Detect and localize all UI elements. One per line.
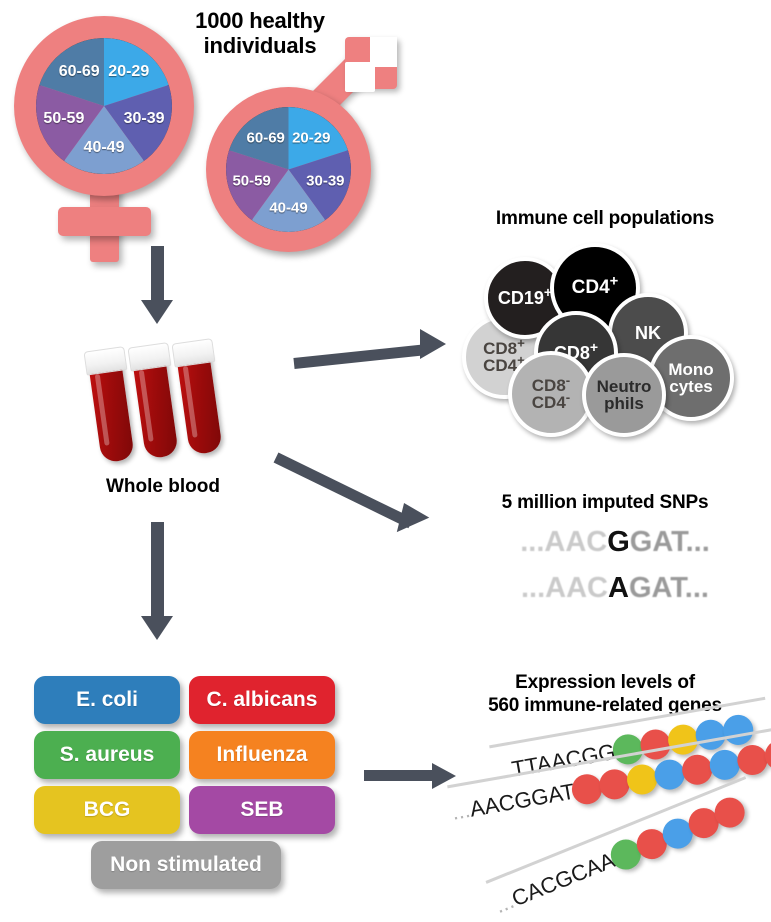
- male-age-pie-chart: 20-2930-3940-4950-5960-69: [226, 107, 351, 232]
- stimulus-influenza[interactable]: Influenza: [189, 731, 335, 779]
- stimulus-non-stimulated[interactable]: Non stimulated: [91, 841, 281, 889]
- stimulus-c-albicans[interactable]: C. albicans: [189, 676, 335, 724]
- snp-allele2-prefix: ...AAC: [521, 572, 608, 604]
- rna-bead: [721, 713, 756, 748]
- rna-strands-group: ...TTAACGG...AACGGAT...CACGCAA: [452, 742, 771, 917]
- rna-bead: [693, 717, 728, 752]
- pie-slice-label-60-69: 60-69: [247, 130, 285, 147]
- blood-tube: [86, 347, 134, 463]
- snp-allele1-prefix: ...AAC: [520, 526, 607, 558]
- blood-tube: [130, 343, 178, 459]
- cohort-title-line2: individuals: [155, 33, 365, 58]
- immune-cell-population-cluster: CD8+CD4+CD19+CD4+NKCD8+MonocytesCD8-CD4-…: [462, 243, 762, 418]
- rna-bead: [735, 743, 770, 778]
- snp-allele2-variant: A: [608, 572, 629, 604]
- pie-slice-label-50-59: 50-59: [232, 173, 270, 190]
- rna-sequence-text: ...AACGGAT: [450, 779, 577, 826]
- expression-title-line1: Expression levels of: [450, 672, 760, 695]
- male-symbol-arrow-notch-2: [370, 37, 397, 67]
- rna-bead: [666, 722, 701, 757]
- rna-sequence-text: ...CACGCAA: [491, 847, 619, 919]
- section-title-expression: Expression levels of 560 immune-related …: [450, 672, 760, 718]
- snp-allele1-variant: G: [607, 526, 630, 558]
- snp-sequence-block: ...AACGGAT... ...AACAGAT...: [470, 526, 760, 614]
- stimuli-panel: E. coliC. albicansS. aureusInfluenzaBCGS…: [34, 676, 344, 894]
- stimulus-seb[interactable]: SEB: [189, 786, 335, 834]
- rna-bead: [680, 752, 715, 787]
- rna-bead: [597, 767, 632, 802]
- female-symbol-cross: [58, 207, 151, 236]
- cohort-title-line1: 1000 healthy: [155, 8, 365, 33]
- snp-allele-row-2: ...AACAGAT...: [470, 572, 760, 605]
- snp-allele2-suffix: GAT...: [629, 572, 709, 604]
- section-title-snps: 5 million imputed SNPs: [455, 492, 755, 514]
- section-title-immune-cells: Immune cell populations: [455, 208, 755, 230]
- rna-bead: [638, 727, 673, 762]
- stimulus-bcg[interactable]: BCG: [34, 786, 180, 834]
- rna-bead: [625, 762, 660, 797]
- page-title-cohort: 1000 healthy individuals: [155, 8, 365, 59]
- pie-slice-label-30-39: 30-39: [124, 110, 165, 128]
- immune-cell-neutrophils: Neutrophils: [582, 353, 666, 437]
- female-age-pie-chart: 20-2930-3940-4950-5960-69: [36, 38, 172, 174]
- whole-blood-tubes: [92, 340, 282, 470]
- pie-slice-label-40-49: 40-49: [269, 200, 307, 217]
- snp-allele1-suffix: GAT...: [630, 526, 710, 558]
- blood-tube: [174, 339, 222, 455]
- pie-slice-label-40-49: 40-49: [84, 139, 125, 157]
- rna-bead: [653, 757, 688, 792]
- rna-bead: [708, 747, 743, 782]
- snp-allele-row-1: ...AACGGAT...: [470, 526, 760, 559]
- whole-blood-label: Whole blood: [78, 476, 248, 498]
- pie-slice-label-50-59: 50-59: [43, 110, 84, 128]
- pie-slice-label-30-39: 30-39: [306, 173, 344, 190]
- pie-slice-label-60-69: 60-69: [59, 63, 100, 81]
- stimulus-s-aureus[interactable]: S. aureus: [34, 731, 180, 779]
- pie-slice-label-20-29: 20-29: [108, 63, 149, 81]
- stimulus-e-coli[interactable]: E. coli: [34, 676, 180, 724]
- figure-canvas: 1000 healthy individuals 20-2930-3940-49…: [0, 0, 771, 922]
- pie-slice-label-20-29: 20-29: [292, 130, 330, 147]
